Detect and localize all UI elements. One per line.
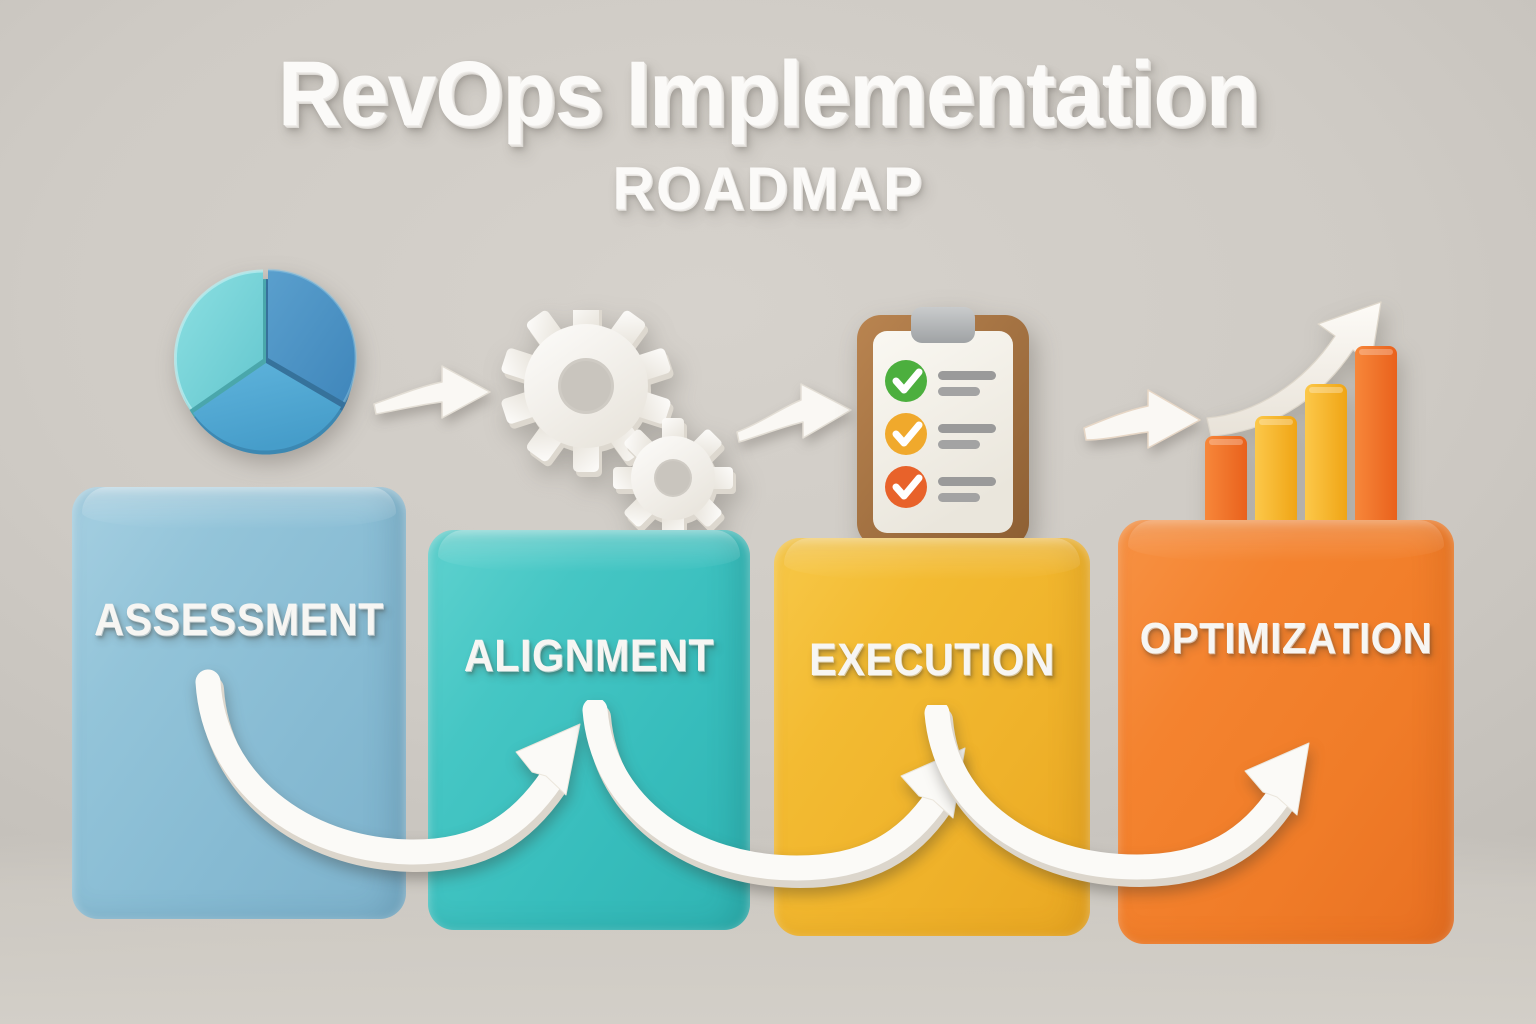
bar-4 (1355, 346, 1397, 533)
gears-icon (500, 310, 750, 545)
bar-1 (1205, 436, 1247, 533)
check-circle-orange (885, 466, 927, 508)
connector-arrow-right-1 (372, 352, 494, 438)
stage-label-optimization: OPTIMIZATION (1131, 614, 1440, 664)
stage-label-assessment: ASSESSMENT (85, 594, 392, 646)
block-top-highlight (82, 487, 396, 529)
clipboard-icon (853, 303, 1033, 553)
bar-chart-icon (1185, 280, 1415, 533)
growth-arrow-icon (1207, 302, 1381, 436)
stage-label-execution: EXECUTION (787, 634, 1078, 686)
infographic-canvas: RevOps Implementation ROADMAP (0, 0, 1536, 1024)
page-subtitle: ROADMAP (31, 154, 1506, 223)
check-circle-amber (885, 413, 927, 455)
block-top-highlight (1128, 520, 1444, 562)
bar-3 (1305, 384, 1347, 533)
block-top-highlight (784, 538, 1080, 580)
pie-chart-icon (174, 268, 362, 460)
block-top-highlight (438, 530, 740, 572)
connector-arrow-right-2 (735, 372, 855, 458)
bar-2 (1255, 416, 1297, 533)
clipboard-clip (911, 307, 975, 343)
gear-small (613, 418, 736, 543)
flow-arrow-assessment-to-alignment (180, 660, 610, 890)
flow-arrow-execution-to-optimization (915, 705, 1335, 900)
title-block: RevOps Implementation ROADMAP (0, 48, 1536, 223)
check-circle-green (885, 360, 927, 402)
page-title: RevOps Implementation (38, 48, 1497, 140)
